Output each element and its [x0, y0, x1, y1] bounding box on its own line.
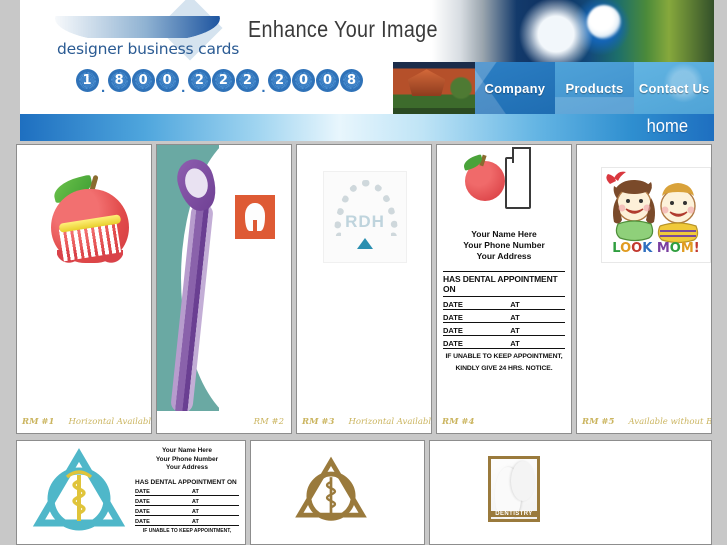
site-logo[interactable]: designer business cards	[45, 4, 240, 60]
site-tagline: Enhance Your Image	[248, 16, 438, 43]
appointment-date-row: DATEAT	[443, 310, 565, 323]
date-label: DATE	[135, 499, 150, 505]
page-root: designer business cards Enhance Your Ima…	[0, 0, 727, 545]
nav-item-home[interactable]: home	[647, 116, 688, 137]
dentistry-logo-icon: DENTISTRY	[488, 456, 540, 522]
look-mom-text: LOOK MOM!	[602, 241, 710, 256]
at-label: AT	[192, 519, 199, 525]
appointment-date-row: DATEAT	[135, 519, 239, 526]
card-thumbnail-rm1[interactable]: RM #1 Horizontal Available	[16, 144, 152, 434]
appointment-date-row: DATEAT	[135, 499, 239, 506]
date-label: DATE	[135, 519, 150, 525]
phone-digit-12: 0	[316, 69, 339, 92]
card-thumbnail-bottom-1[interactable]: Your Name Here Your Phone Number Your Ad…	[16, 440, 246, 545]
card-name-line-1: Your Name Here	[443, 229, 565, 240]
card-caption-rm5: RM #5 Available without Braces	[577, 414, 711, 430]
dentistry-figure-2	[511, 461, 535, 501]
at-label: AT	[510, 300, 519, 309]
header-banner-image	[432, 0, 714, 62]
card-id-rm4: RM #4	[442, 417, 474, 427]
appointment-text-block: Your Name Here Your Phone Number Your Ad…	[443, 229, 565, 373]
dental-caduceus-teal-icon	[31, 447, 127, 543]
date-label: DATE	[443, 313, 463, 322]
card-id-rm3: RM #3	[302, 417, 334, 427]
blue-divider-bar: home	[20, 114, 714, 141]
date-blank	[152, 499, 190, 505]
apple-icon	[465, 161, 505, 201]
card-thumbnail-bottom-2[interactable]	[250, 440, 425, 545]
card-name-line-3: Your Address	[443, 251, 565, 262]
phone-digit-7: 2	[212, 69, 235, 92]
nav-item-contact-us-label: Contact Us	[639, 81, 710, 96]
site-header: designer business cards Enhance Your Ima…	[20, 0, 714, 62]
divider	[443, 271, 565, 272]
card-thumbnail-rm3[interactable]: RDH RM #3 Horizontal Available	[296, 144, 432, 434]
card-note-rm5: Available without Braces	[628, 417, 712, 427]
at-blank	[201, 509, 239, 515]
appointment-date-row: DATEAT	[443, 323, 565, 336]
phone-digit-8: 2	[236, 69, 259, 92]
triangle-icon	[357, 238, 373, 249]
nav-item-company-label: Company	[485, 81, 546, 96]
card-name-line-2: Your Phone Number	[443, 240, 565, 251]
card-grid-bottom: Your Name Here Your Phone Number Your Ad…	[16, 440, 712, 545]
at-label: AT	[510, 326, 519, 335]
card-thumbnail-rm2[interactable]: RM #2	[156, 144, 292, 434]
card-art-rdh-logo: RDH	[297, 145, 431, 411]
date-blank	[152, 509, 190, 515]
card-id-rm1: RM #1	[22, 417, 54, 427]
card-note-rm1: Horizontal Available	[68, 417, 152, 427]
appointment-card-body: Your Name Here Your Phone Number Your Ad…	[443, 151, 565, 411]
tooth-icon	[235, 195, 275, 239]
phone-digit-10: 2	[268, 69, 291, 92]
has-appointment-label: HAS DENTAL APPOINTMENT ON	[135, 479, 239, 486]
card-art-appointment: Your Name Here Your Phone Number Your Ad…	[437, 145, 571, 411]
at-blank	[201, 499, 239, 505]
at-label: AT	[510, 339, 519, 348]
has-appointment-label: HAS DENTAL APPOINTMENT ON	[443, 274, 565, 297]
nav-item-products[interactable]: Products	[555, 62, 635, 114]
appointment-date-row: DATEAT	[443, 336, 565, 349]
card-caption-rm2: RM #2	[157, 414, 291, 430]
dentistry-logo-label: DENTISTRY	[491, 511, 537, 517]
appointment-date-row: DATEAT	[135, 509, 239, 516]
date-label: DATE	[135, 489, 150, 495]
card-art-toothbrush	[157, 145, 291, 411]
appointment-date-row: DATEAT	[135, 489, 239, 496]
card-note-rm3: Horizontal Available	[348, 417, 432, 427]
nav-item-contact-us[interactable]: Contact Us	[634, 62, 714, 114]
appointment-notice-line-1: IF UNABLE TO KEEP APPOINTMENT,	[443, 349, 565, 361]
phone-digit-4: 0	[156, 69, 179, 92]
card-name-line-3: Your Address	[135, 464, 239, 473]
nav-building-photo	[393, 62, 475, 114]
card-caption-rm3: RM #3 Horizontal Available	[297, 414, 431, 430]
appointment-date-rows: DATEATDATEATDATEATDATEAT	[135, 489, 239, 526]
phone-number: 1.800.222.2008	[75, 60, 364, 100]
at-label: AT	[192, 499, 199, 505]
card-caption-rm4: RM #4	[437, 414, 571, 430]
nav-item-company[interactable]: Company	[475, 62, 555, 114]
bottom-card-text-block: Your Name Here Your Phone Number Your Ad…	[135, 447, 239, 534]
rdh-logo-box: RDH	[323, 171, 407, 263]
appointment-date-rows: DATEATDATEATDATEATDATEAT	[443, 297, 565, 349]
card-name-line-2: Your Phone Number	[135, 456, 239, 465]
card-id-rm5: RM #5	[582, 417, 614, 427]
phone-digit-3: 0	[132, 69, 155, 92]
card-thumbnail-rm4[interactable]: Your Name Here Your Phone Number Your Ad…	[436, 144, 572, 434]
at-blank	[201, 489, 239, 495]
appointment-notice-line-1: IF UNABLE TO KEEP APPOINTMENT,	[135, 528, 239, 534]
at-label: AT	[510, 313, 519, 322]
at-blank	[201, 519, 239, 525]
phone-dot: .	[179, 79, 187, 96]
dental-caduceus-gold-icon	[293, 455, 369, 531]
phone-dot: .	[259, 79, 267, 96]
date-blank	[152, 519, 190, 525]
card-thumbnail-rm5[interactable]: LOOK MOM! RM #5 Available without Braces	[576, 144, 712, 434]
phone-digit-13: 8	[340, 69, 363, 92]
at-label: AT	[192, 509, 199, 515]
card-id-rm2: RM #2	[254, 417, 286, 427]
kids-drawing-box: LOOK MOM!	[601, 167, 711, 263]
card-thumbnail-bottom-3[interactable]: DENTISTRY	[429, 440, 712, 545]
apple-icon	[47, 175, 133, 265]
right-gutter	[714, 0, 727, 545]
card-caption-rm1: RM #1 Horizontal Available	[17, 414, 151, 430]
at-label: AT	[192, 489, 199, 495]
date-label: DATE	[443, 326, 463, 335]
date-label: DATE	[135, 509, 150, 515]
logo-text: designer business cards	[57, 40, 239, 58]
phone-dot: .	[99, 79, 107, 96]
nav-item-products-label: Products	[566, 81, 624, 96]
card-art-apple-toothbrush	[17, 145, 151, 411]
rdh-logo-text: RDH	[324, 212, 406, 232]
card-art-look-mom: LOOK MOM!	[577, 145, 711, 411]
toothpaste-tube-icon	[505, 157, 531, 209]
date-label: DATE	[443, 300, 463, 309]
card-name-line-1: Your Name Here	[135, 447, 239, 456]
logo-swoosh-icon	[55, 16, 220, 38]
appointment-notice-line-2: KINDLY GIVE 24 HRS. NOTICE.	[443, 361, 565, 373]
appointment-date-row: DATEAT	[443, 297, 565, 310]
appointment-illustration	[443, 151, 565, 229]
phone-digit-2: 8	[108, 69, 131, 92]
main-nav: Company Products Contact Us	[393, 62, 714, 114]
card-grid-top: RM #1 Horizontal Available RM #2	[16, 144, 712, 434]
phone-digit-0: 1	[76, 69, 99, 92]
phone-digit-6: 2	[188, 69, 211, 92]
date-blank	[152, 489, 190, 495]
phone-digit-11: 0	[292, 69, 315, 92]
date-label: DATE	[443, 339, 463, 348]
